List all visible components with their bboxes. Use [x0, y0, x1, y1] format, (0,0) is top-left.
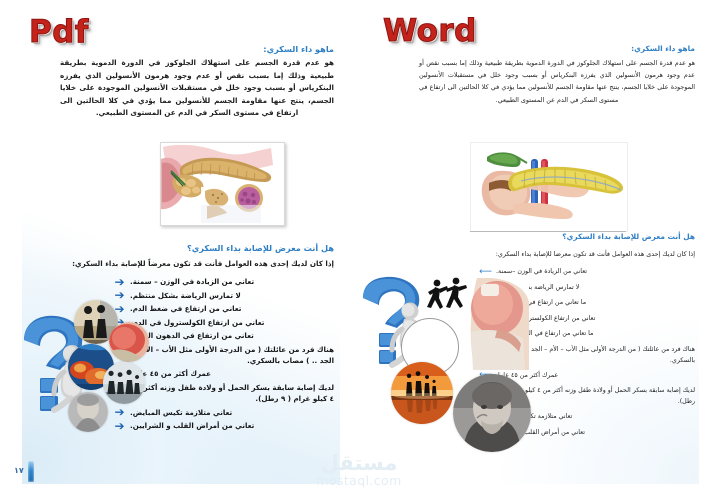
pdf-risk-factor-list: تعاني من الزيادة في الوزن – سمنة. ➔ لا ت…	[114, 276, 334, 434]
word-page-panel: Word ماهو داء السكري: هو عدم قدرة الجسم …	[359, 0, 717, 503]
word-collage-illustration	[359, 276, 545, 466]
sunset-family-icon	[391, 362, 453, 424]
list-item-label: تعاني من ارتفاع الكولسترول في الدم.	[130, 317, 264, 328]
list-item: تعاني من الزيادة في الوزن – سمنة. ➔	[114, 276, 334, 288]
word-paragraph-risk-intro: إذا كان لديك إحدى هذه العوامل فأنت قد تك…	[427, 248, 695, 260]
page-number-bar	[28, 461, 34, 482]
pdf-collage-illustration	[8, 296, 134, 446]
list-item: تعاني متلازمة تكيس المبايض. ➔	[114, 407, 334, 419]
word-heading-what-is-diabetes: ماهو داء السكري:	[631, 43, 695, 54]
page-number: ١٧	[14, 466, 24, 475]
list-item: تعاني من أمراض القلب و الشرايين. ➔	[114, 420, 334, 432]
pdf-paragraph-risk-intro: إذا كان لديك إحدى هذه العوامل فأنت قد تك…	[70, 258, 334, 271]
list-item-label: لا تمارس الرياضة بشكل منتظم.	[130, 290, 241, 301]
bubble-sunset-family-photo	[391, 362, 453, 424]
word-label: Word	[383, 13, 477, 49]
arrow-left-icon: ➔	[114, 277, 125, 288]
watermark: مستقل mostaql.com	[284, 452, 434, 500]
pdf-heading-what-is-diabetes: ماهو داء السكري:	[263, 44, 334, 55]
pdf-heading-risk-question: هل أنت معرض للإصابة بداء السكري؟	[187, 243, 334, 254]
list-item: تعاني من ارتفاع في ضغط الدم. ➔	[114, 303, 334, 315]
abdomen-photo-icon	[109, 322, 149, 362]
bubble-elderly-photo	[68, 392, 108, 432]
family-silhouette-icon	[103, 362, 145, 404]
list-item-label: تعاني من الزيادة في الوزن – سمنة.	[130, 276, 254, 287]
elderly-man-icon	[453, 374, 531, 452]
bubble-elderly-man-photo	[453, 374, 531, 452]
pdf-page-panel: Pdf ماهو داء السكري: هو عدم قدرة الجسم ع…	[0, 0, 358, 503]
pdf-label: Pdf	[29, 14, 89, 50]
pdf-pancreas-figure	[160, 142, 285, 226]
pancreas-illustration-icon	[161, 143, 284, 225]
list-item-label: هناك فرد من عائلتك ( من الدرجة الأولى مث…	[130, 344, 334, 367]
bubble-family-silhouette-photo	[103, 362, 145, 404]
word-heading-risk-question: هل أنت معرض للإصابة بداء السكري؟	[562, 231, 695, 242]
pdf-paragraph-definition: هو عدم قدرة الجسم على استهلاك الجلوكوز ف…	[60, 57, 334, 120]
pancreas-illustration-icon	[471, 143, 627, 231]
watermark-arabic: مستقل	[284, 452, 434, 474]
page-spread: Pdf ماهو داء السكري: هو عدم قدرة الجسم ع…	[0, 0, 717, 503]
list-item: تعاني من ارتفاع الكولسترول في الدم. ➔	[114, 317, 334, 329]
list-item-label: لديك إصابة سابقة بسكر الحمل أو ولادة طفل…	[130, 382, 334, 405]
list-item-label: تعاني من أمراض القلب و الشرايين.	[130, 420, 254, 431]
list-item: لا تمارس الرياضة بشكل منتظم. ➔	[114, 290, 334, 302]
word-paragraph-definition: هو عدم قدرة الجسم على استهلاك الجلوكوز ف…	[419, 57, 695, 106]
word-pancreas-figure	[470, 142, 628, 232]
list-item: عمرك أكثر من ٤٥ عاماً. ➔	[114, 368, 334, 380]
list-item-label: تعاني متلازمة تكيس المبايض.	[130, 407, 232, 418]
elderly-man-icon	[68, 392, 108, 432]
list-item-label: تعاني من ارتفاع في ضغط الدم.	[130, 303, 241, 314]
watermark-domain: mostaql.com	[284, 474, 434, 488]
list-item: لديك إصابة سابقة بسكر الحمل أو ولادة طفل…	[114, 382, 334, 405]
pregnant-woman-icon	[467, 278, 529, 370]
pregnancy-photo	[467, 278, 529, 370]
bubble-obesity-photo	[109, 322, 149, 362]
